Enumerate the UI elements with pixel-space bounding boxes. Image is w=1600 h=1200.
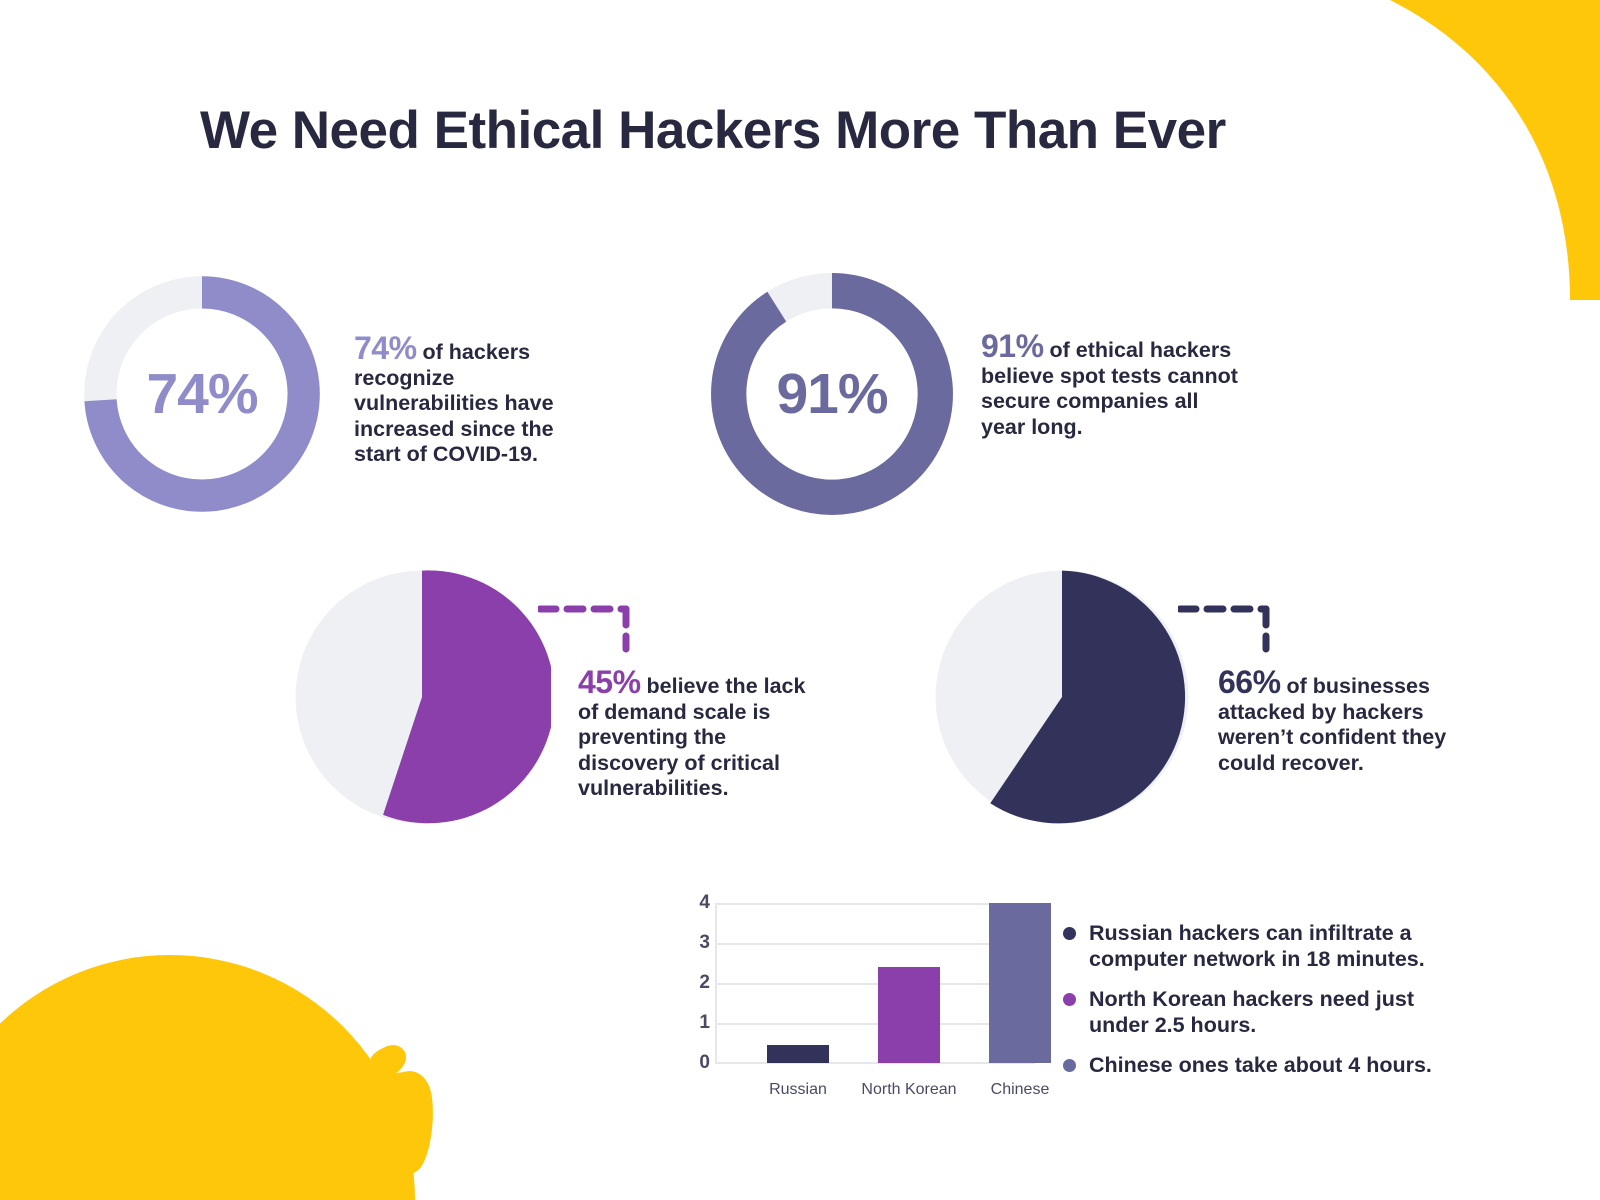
legend-bullet-russian-icon — [1063, 927, 1076, 940]
stat-text-74: 74% of hackers recognize vulnerabilities… — [354, 336, 569, 468]
stat-text-66: 66% of businesses attacked by hackers we… — [1218, 670, 1468, 776]
xtick-russian: Russian — [738, 1081, 858, 1099]
pie-66-svg — [933, 568, 1191, 826]
donut-chart-74: 74% — [78, 270, 326, 518]
legend-bullet-chinese-icon — [1063, 1059, 1076, 1072]
stat-highlight-74: 74% — [354, 330, 417, 366]
bar-russian[interactable] — [767, 1045, 829, 1063]
donut-74-value: 74% — [78, 270, 326, 518]
stat-highlight-66: 66% — [1218, 664, 1281, 700]
legend-bullet-north-korean-icon — [1063, 993, 1076, 1006]
legend-label-russian: Russian hackers can infiltrate a compute… — [1089, 920, 1463, 972]
pie-45-svg — [293, 568, 551, 826]
bar-chart-plot-area: Russian North Korean Chinese — [715, 903, 1035, 1063]
ytick-0: 0 — [688, 1052, 710, 1074]
gridline-0 — [715, 1062, 1035, 1064]
stat-text-91: 91% of ethical hackers believe spot test… — [981, 334, 1246, 440]
connector-dashed-45-icon — [538, 601, 638, 661]
ytick-3: 3 — [688, 932, 710, 954]
infographic-canvas: We Need Ethical Hackers More Than Ever 7… — [0, 0, 1600, 1200]
pie-chart-66 — [933, 568, 1191, 826]
donut-chart-91: 91% — [706, 268, 958, 520]
bar-chart: 4 3 2 1 0 Russian North Korean Chinese — [690, 895, 1035, 1095]
connector-dashed-66-icon — [1178, 601, 1278, 661]
yellow-blob-top-right-icon — [1270, 0, 1600, 300]
pie-chart-45 — [293, 568, 551, 826]
stat-text-45: 45% believe the lack of demand scale is … — [578, 670, 828, 802]
ytick-1: 1 — [688, 1012, 710, 1034]
xtick-chinese: Chinese — [960, 1081, 1080, 1099]
bar-chinese[interactable] — [989, 903, 1051, 1063]
bar-chart-legend: Russian hackers can infiltrate a compute… — [1063, 920, 1463, 1092]
stat-highlight-91: 91% — [981, 328, 1044, 364]
ytick-4: 4 — [688, 892, 710, 914]
legend-item-russian: Russian hackers can infiltrate a compute… — [1063, 920, 1463, 972]
gridline-3 — [715, 943, 1035, 945]
xtick-north-korean: North Korean — [849, 1081, 969, 1099]
legend-item-north-korean: North Korean hackers need just under 2.5… — [1063, 986, 1463, 1038]
legend-label-north-korean: North Korean hackers need just under 2.5… — [1089, 986, 1463, 1038]
gridline-2 — [715, 983, 1035, 985]
yellow-blob-bottom-left-icon — [0, 900, 470, 1200]
page-title: We Need Ethical Hackers More Than Ever — [200, 100, 1226, 161]
bar-chart-y-axis-ticks: 4 3 2 1 0 — [690, 903, 710, 1063]
ytick-2: 2 — [688, 972, 710, 994]
donut-91-value: 91% — [706, 268, 958, 520]
gridline-4 — [715, 903, 1035, 905]
stat-highlight-45: 45% — [578, 664, 641, 700]
gridline-1 — [715, 1023, 1035, 1025]
legend-item-chinese: Chinese ones take about 4 hours. — [1063, 1052, 1463, 1078]
legend-label-chinese: Chinese ones take about 4 hours. — [1089, 1052, 1432, 1078]
bar-north-korean[interactable] — [878, 967, 940, 1063]
